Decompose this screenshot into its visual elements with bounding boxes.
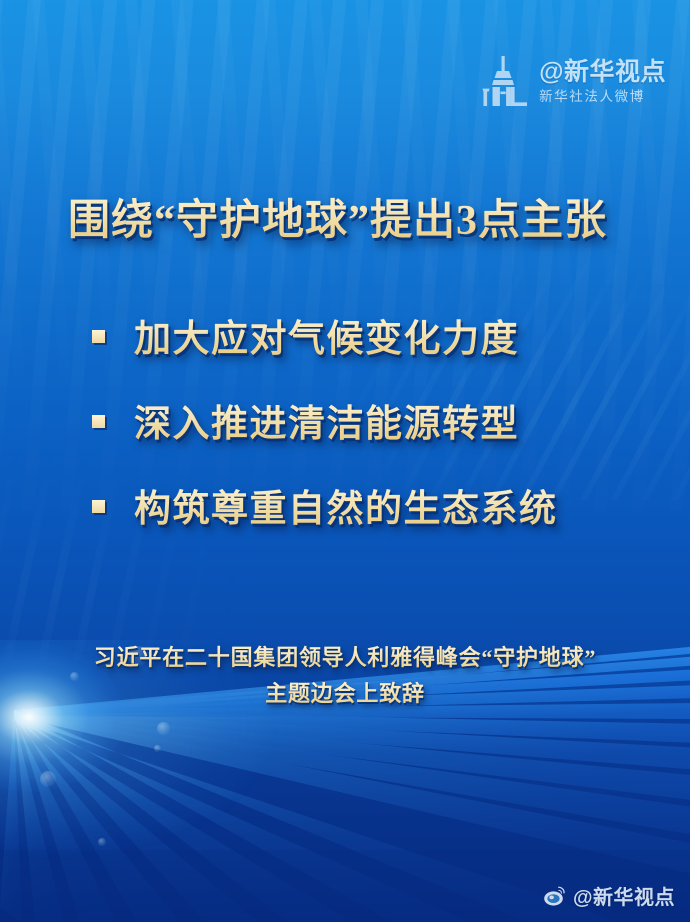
xinhua-account-text: @新华视点 新华社法人微博	[539, 60, 666, 104]
weibo-eye-icon	[543, 884, 567, 908]
list-item: 加大应对气候变化力度	[92, 292, 612, 377]
weibo-watermark-label: @新华视点	[573, 881, 675, 910]
xinhua-account-logo[interactable]: @新华视点 新华社法人微博	[478, 54, 666, 110]
list-item: 构筑尊重自然的生态系统	[92, 462, 612, 547]
square-bullet-icon	[92, 330, 105, 343]
list-item: 深入推进清洁能源转型	[92, 377, 612, 462]
list-item-label: 加大应对气候变化力度	[134, 308, 519, 362]
account-subtitle: 新华社法人微博	[539, 90, 666, 104]
caption-line-1: 习近平在二十国集团领导人利雅得峰会“守护地球”	[0, 640, 690, 676]
list-item-label: 构筑尊重自然的生态系统	[134, 478, 558, 532]
square-bullet-icon	[92, 415, 105, 428]
caption-block: 习近平在二十国集团领导人利雅得峰会“守护地球” 主题边会上致辞	[0, 640, 690, 712]
square-bullet-icon	[92, 500, 105, 513]
caption-line-2: 主题边会上致辞	[0, 676, 690, 712]
key-points-list: 加大应对气候变化力度 深入推进清洁能源转型 构筑尊重自然的生态系统	[92, 292, 612, 547]
list-item-label: 深入推进清洁能源转型	[134, 393, 519, 447]
page-title: 围绕“守护地球”提出3点主张	[68, 186, 607, 247]
poster-canvas: @新华视点 新华社法人微博 围绕“守护地球”提出3点主张 加大应对气候变化力度 …	[0, 0, 690, 922]
weibo-watermark: @新华视点	[543, 881, 675, 910]
xinhua-tower-logo-icon	[478, 54, 530, 110]
account-name: @新华视点	[539, 60, 666, 85]
